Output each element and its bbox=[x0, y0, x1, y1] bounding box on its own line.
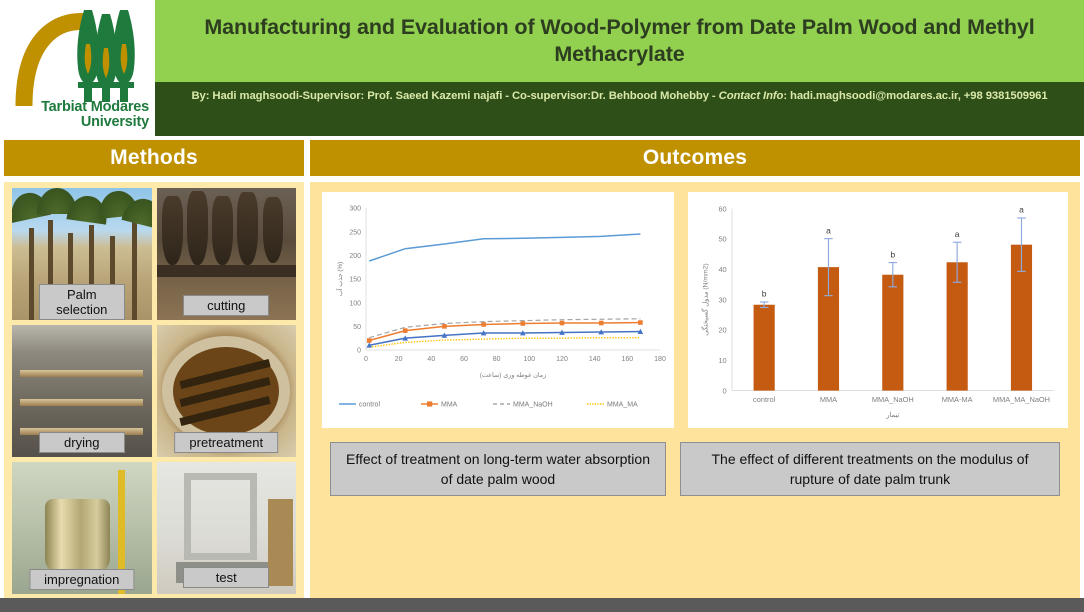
svg-text:120: 120 bbox=[556, 356, 568, 363]
svg-text:MMA_NaOH: MMA_NaOH bbox=[872, 395, 914, 404]
logo-line-2: University bbox=[0, 115, 149, 130]
svg-text:10: 10 bbox=[718, 356, 726, 365]
photo-test: test bbox=[157, 462, 297, 594]
svg-text:b: b bbox=[890, 249, 895, 259]
svg-text:20: 20 bbox=[718, 326, 726, 335]
contact-info-value: : hadi.maghsoodi@modares.ac.ir, +98 9381… bbox=[783, 90, 1047, 102]
photo-caption: pretreatment bbox=[174, 432, 278, 453]
line-chart-svg: 0501001502002503000204060801001201401601… bbox=[330, 198, 666, 422]
photo-pretreatment: pretreatment bbox=[157, 325, 297, 457]
svg-text:50: 50 bbox=[718, 235, 726, 244]
poster-body: Palm selection cutting bbox=[0, 176, 1084, 600]
water-absorption-chart: 0501001502002503000204060801001201401601… bbox=[322, 192, 674, 428]
title-band: Manufacturing and Evaluation of Wood-Pol… bbox=[155, 0, 1084, 82]
svg-text:MMA_MA_NaOH: MMA_MA_NaOH bbox=[993, 395, 1050, 404]
contact-info-label: Contact Info bbox=[719, 90, 784, 102]
caption-water-absorption: Effect of treatment on long-term water a… bbox=[330, 442, 666, 496]
svg-text:تیمار: تیمار bbox=[885, 411, 899, 419]
svg-text:b: b bbox=[762, 289, 767, 299]
poster-title: Manufacturing and Evaluation of Wood-Pol… bbox=[181, 14, 1058, 68]
svg-text:80: 80 bbox=[493, 356, 501, 363]
byline: By: Hadi maghsoodi-Supervisor: Prof. Sae… bbox=[191, 89, 1047, 105]
svg-text:control: control bbox=[753, 395, 776, 404]
svg-text:40: 40 bbox=[718, 265, 726, 274]
section-banner-row: Methods Outcomes bbox=[0, 136, 1084, 176]
svg-text:180: 180 bbox=[654, 356, 666, 363]
caption-modulus-rupture: The effect of different treatments on th… bbox=[680, 442, 1060, 496]
photo-caption: impregnation bbox=[29, 569, 134, 590]
svg-text:50: 50 bbox=[353, 324, 361, 331]
svg-text:0: 0 bbox=[357, 348, 361, 355]
university-logo-icon bbox=[14, 4, 154, 110]
methods-panel: Palm selection cutting bbox=[4, 182, 304, 600]
svg-text:MMA_MA: MMA_MA bbox=[607, 402, 638, 409]
university-logo: Tarbiat Modares University bbox=[0, 0, 155, 136]
svg-text:300: 300 bbox=[349, 206, 361, 213]
svg-text:جذب آب (%): جذب آب (%) bbox=[336, 262, 344, 297]
poster-header: Tarbiat Modares University Manufacturing… bbox=[0, 0, 1084, 136]
svg-text:a: a bbox=[955, 229, 960, 239]
bar-plot: 0102030405060bcontrolaMMAbMMA_NaOHaMMA-M… bbox=[696, 198, 1060, 435]
svg-text:60: 60 bbox=[460, 356, 468, 363]
logo-line-1: Tarbiat Modares bbox=[0, 100, 149, 115]
bottom-bar bbox=[0, 598, 1084, 612]
outcomes-panel: 0501001502002503000204060801001201401601… bbox=[310, 182, 1080, 600]
svg-text:150: 150 bbox=[349, 277, 361, 284]
svg-text:60: 60 bbox=[718, 204, 726, 213]
svg-text:100: 100 bbox=[523, 356, 535, 363]
university-logo-text: Tarbiat Modares University bbox=[0, 100, 149, 130]
photo-caption: test bbox=[183, 567, 269, 588]
byline-band: By: Hadi maghsoodi-Supervisor: Prof. Sae… bbox=[155, 82, 1084, 136]
svg-text:مدول گسیختگی (N/mm2): مدول گسیختگی (N/mm2) bbox=[701, 263, 710, 336]
svg-text:زمان غوطه وری (ساعت): زمان غوطه وری (ساعت) bbox=[480, 372, 546, 379]
svg-text:0: 0 bbox=[723, 386, 727, 395]
photo-palm-selection: Palm selection bbox=[12, 188, 152, 320]
svg-text:200: 200 bbox=[349, 253, 361, 260]
svg-text:140: 140 bbox=[589, 356, 601, 363]
modulus-rupture-chart: 0102030405060bcontrolaMMAbMMA_NaOHaMMA-M… bbox=[688, 192, 1068, 428]
bar-chart-svg: 0102030405060bcontrolaMMAbMMA_NaOHaMMA-M… bbox=[696, 198, 1060, 435]
title-column: Manufacturing and Evaluation of Wood-Pol… bbox=[155, 0, 1084, 136]
svg-text:MMA_NaOH: MMA_NaOH bbox=[513, 402, 553, 409]
svg-text:MMA-MA: MMA-MA bbox=[942, 395, 973, 404]
svg-text:0: 0 bbox=[364, 356, 368, 363]
svg-text:40: 40 bbox=[427, 356, 435, 363]
svg-text:30: 30 bbox=[718, 295, 726, 304]
byline-authors: By: Hadi maghsoodi-Supervisor: Prof. Sae… bbox=[191, 90, 718, 102]
svg-text:MMA: MMA bbox=[441, 402, 458, 409]
photo-drying: drying bbox=[12, 325, 152, 457]
svg-text:control: control bbox=[359, 402, 380, 409]
methods-photo-grid: Palm selection cutting bbox=[12, 188, 296, 594]
chart-captions-row: Effect of treatment on long-term water a… bbox=[322, 442, 1068, 496]
photo-impregnation: impregnation bbox=[12, 462, 152, 594]
svg-text:160: 160 bbox=[621, 356, 633, 363]
poster-page: Tarbiat Modares University Manufacturing… bbox=[0, 0, 1084, 612]
svg-text:MMA: MMA bbox=[820, 395, 837, 404]
line-plot: 0501001502002503000204060801001201401601… bbox=[330, 198, 666, 422]
svg-text:a: a bbox=[1019, 205, 1024, 215]
banner-methods: Methods bbox=[4, 140, 304, 176]
svg-text:20: 20 bbox=[395, 356, 403, 363]
svg-text:a: a bbox=[826, 225, 831, 235]
charts-row: 0501001502002503000204060801001201401601… bbox=[322, 192, 1068, 428]
photo-caption: drying bbox=[39, 432, 125, 453]
photo-caption: Palm selection bbox=[39, 284, 125, 320]
svg-text:100: 100 bbox=[349, 300, 361, 307]
svg-text:250: 250 bbox=[349, 229, 361, 236]
banner-outcomes: Outcomes bbox=[310, 140, 1080, 176]
photo-caption: cutting bbox=[183, 295, 269, 316]
photo-cutting: cutting bbox=[157, 188, 297, 320]
